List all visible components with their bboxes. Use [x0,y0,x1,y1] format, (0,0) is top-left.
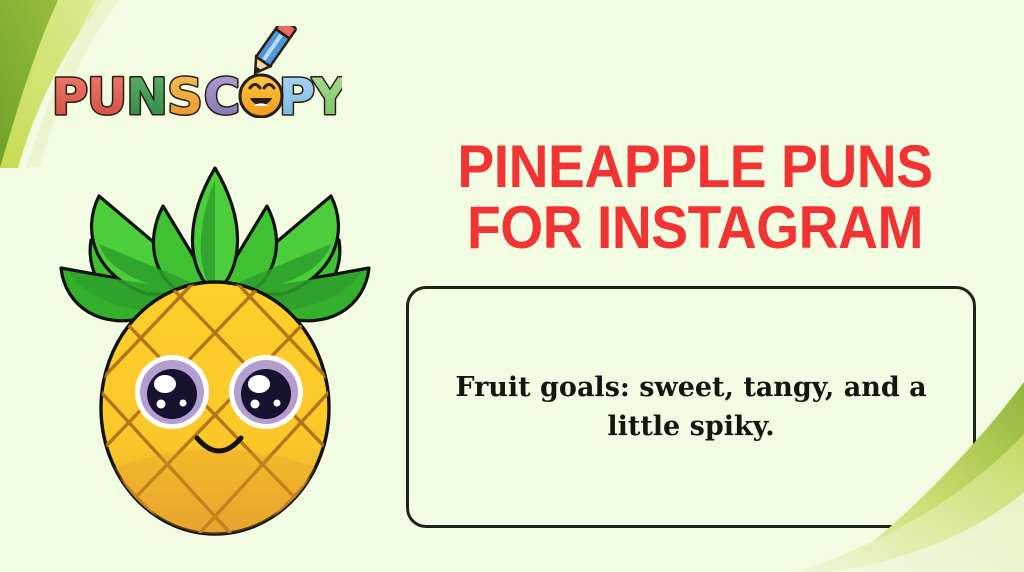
quote-card: Fruit goals: sweet, tangy, and a little … [406,286,976,528]
laughing-emoji-o-icon [240,75,282,117]
logo-letter-s: S [167,68,203,118]
logo-letter-p2: P [279,68,316,118]
logo-letter-p1: P [52,68,88,118]
poster-canvas: P U N S C P Y [0,0,1024,572]
logo-letter-y: Y [311,68,342,118]
pineapple-character-illustration [55,160,375,550]
quote-text: Fruit goals: sweet, tangy, and a little … [409,368,973,446]
logo-letters: P U N S C P Y [52,68,342,118]
logo-letter-n: N [126,68,168,118]
logo-letter-c: C [204,68,241,118]
logo-letter-u: U [87,68,128,118]
page-title: PINEAPPLE PUNS FOR INSTAGRAM [424,136,967,258]
right-eye [229,355,303,429]
left-eye [135,355,209,429]
brand-logo[interactable]: P U N S C P Y [52,26,342,118]
page-title-line-2: FOR INSTAGRAM [424,197,967,258]
page-title-line-1: PINEAPPLE PUNS [424,136,967,197]
